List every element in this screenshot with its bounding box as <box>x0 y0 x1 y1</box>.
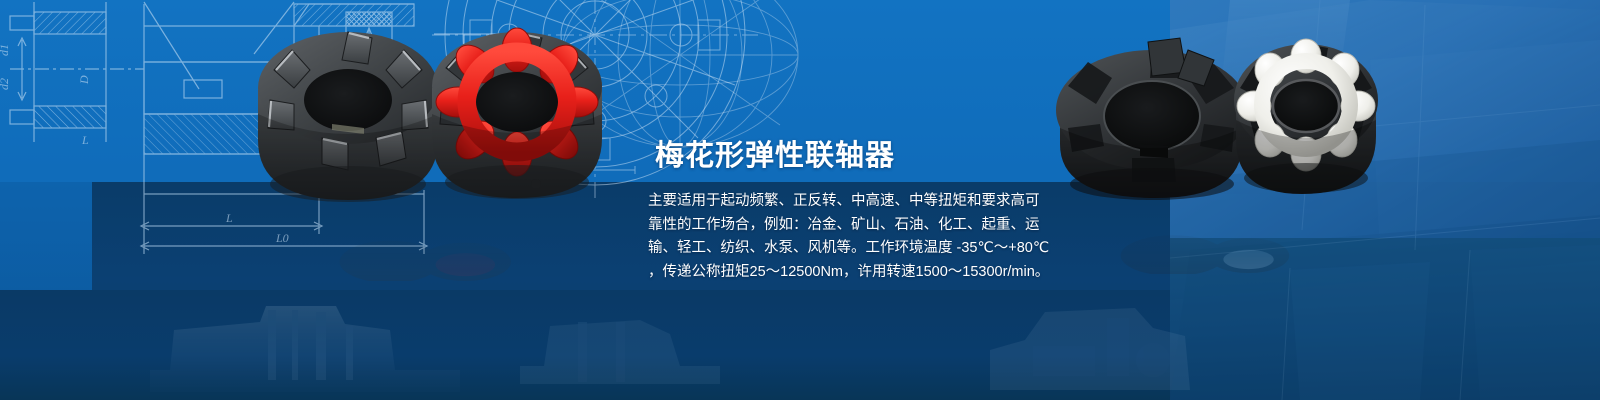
description-line: 靠性的工作场合，例如：冶金、矿山、石油、化工、起重、运 <box>648 214 1052 238</box>
description-line: 主要适用于起动频繁、正反转、中高速、中等扭矩和要求高可 <box>648 190 1052 214</box>
product-banner: d1 d2 D D1 L L L0 <box>0 0 1600 400</box>
banner-description: 主要适用于起动频繁、正反转、中高速、中等扭矩和要求高可 靠性的工作场合，例如：冶… <box>648 190 1052 284</box>
description-line: 输、轻工、纺织、水泵、风机等。工作环境温度 -35℃～+80℃ <box>648 237 1052 261</box>
page-title: 梅花形弹性联轴器 <box>655 137 895 175</box>
banner-title-wrap: 梅花形弹性联轴器 <box>655 137 895 175</box>
right-photo-panel-lower <box>1170 238 1600 400</box>
description-line: ，传递公称扭矩25～12500Nm，许用转速1500～15300r/min。 <box>648 261 1052 285</box>
